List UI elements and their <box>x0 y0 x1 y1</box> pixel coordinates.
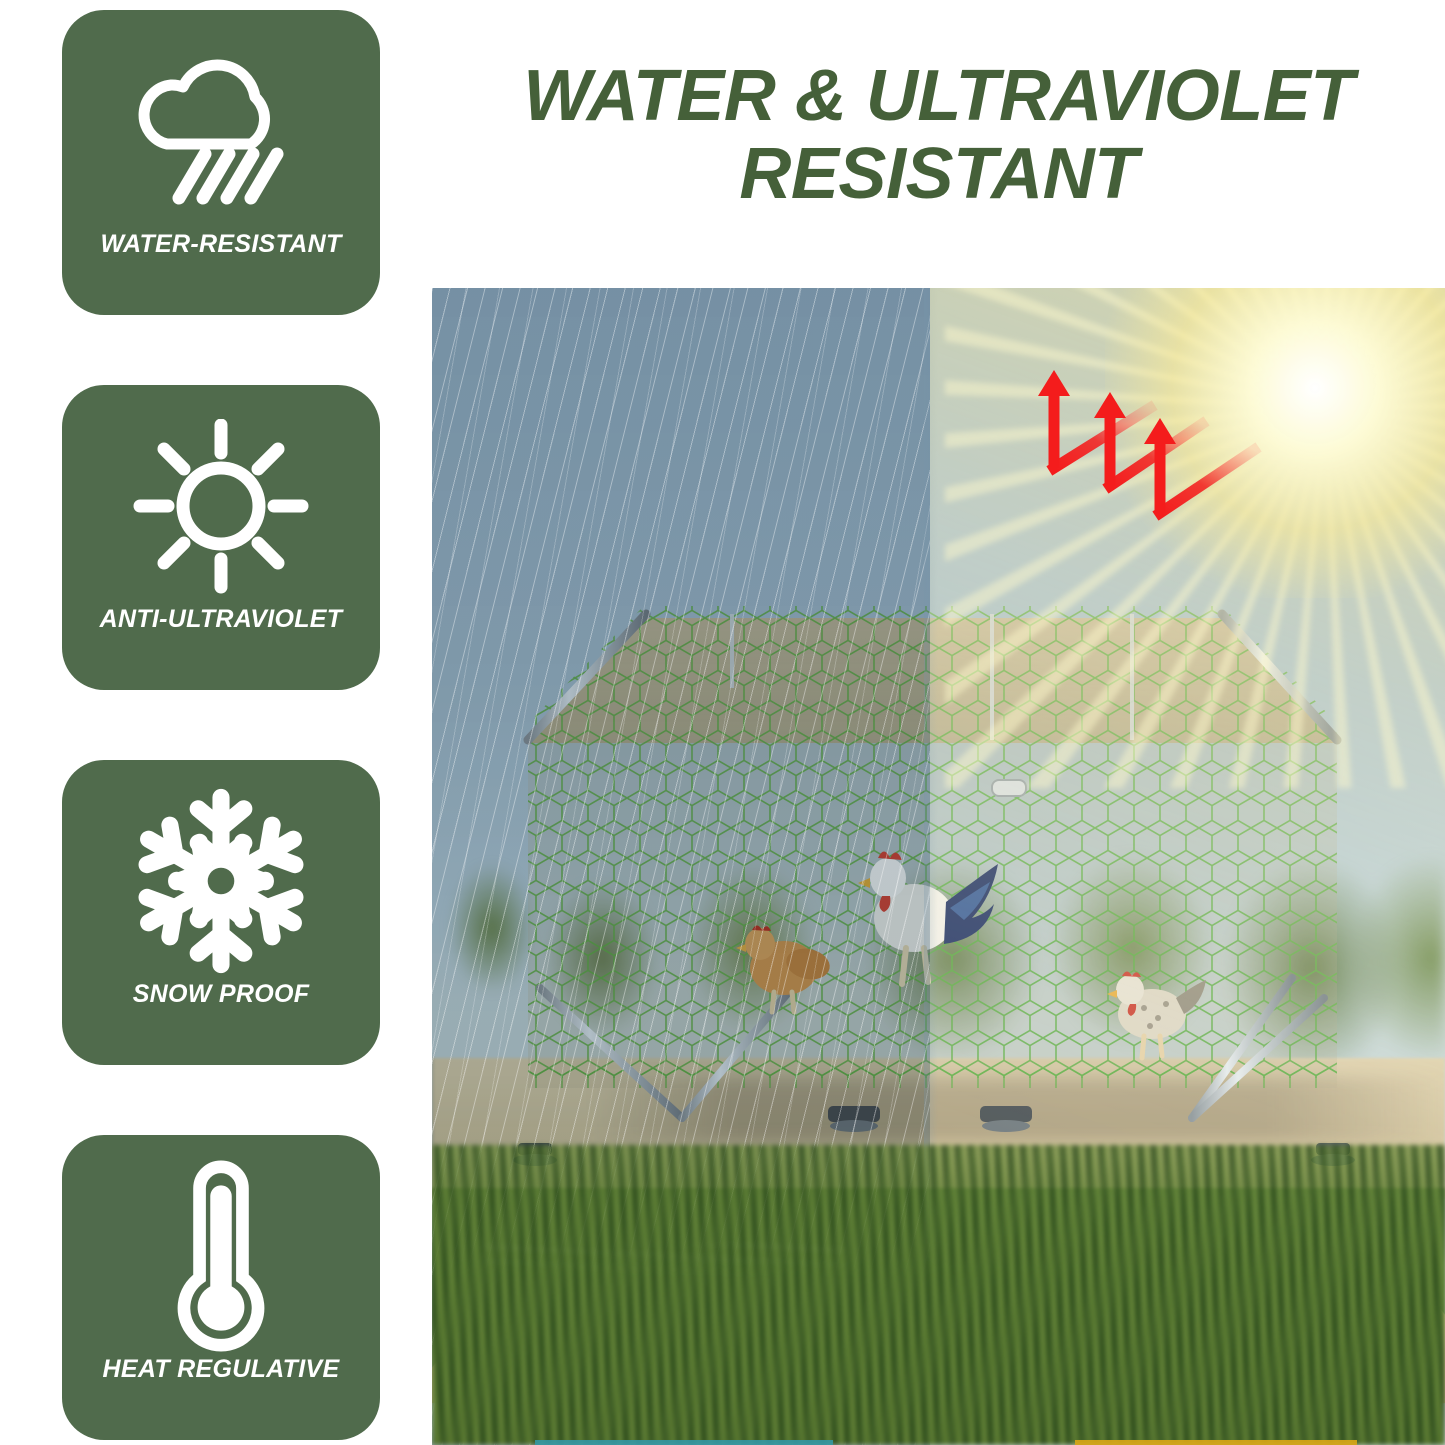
thermometer-icon <box>121 1161 321 1351</box>
product-photo: Rain Sunny <box>432 288 1445 1445</box>
snowflake-icon <box>121 786 321 976</box>
feature-card-water-resistant: WATER-RESISTANT <box>62 10 380 315</box>
uv-reflection-arrows <box>1032 368 1332 588</box>
headline-line-1: WATER & ULTRAVIOLET <box>432 58 1445 136</box>
feature-card-snow-proof: SNOW PROOF <box>62 760 380 1065</box>
status-badge-sunny: Sunny <box>1075 1440 1357 1445</box>
feature-card-heat-regulative: HEAT REGULATIVE <box>62 1135 380 1440</box>
rain-cloud-icon <box>121 36 321 226</box>
foreground-grass <box>432 1145 1445 1445</box>
feature-label: ANTI-ULTRAVIOLET <box>100 605 343 634</box>
feature-label: HEAT REGULATIVE <box>103 1355 340 1384</box>
feature-card-anti-ultraviolet: ANTI-ULTRAVIOLET <box>62 385 380 690</box>
status-badge-rain: Rain <box>535 1440 833 1445</box>
product-infographic: WATER-RESISTANT <box>0 0 1445 1445</box>
feature-label: SNOW PROOF <box>133 980 310 1009</box>
feature-card-column: WATER-RESISTANT <box>0 0 430 1445</box>
page-title: WATER & ULTRAVIOLET RESISTANT <box>432 58 1445 214</box>
sun-icon <box>121 411 321 601</box>
feature-label: WATER-RESISTANT <box>100 230 341 259</box>
headline-line-2: RESISTANT <box>432 136 1445 214</box>
